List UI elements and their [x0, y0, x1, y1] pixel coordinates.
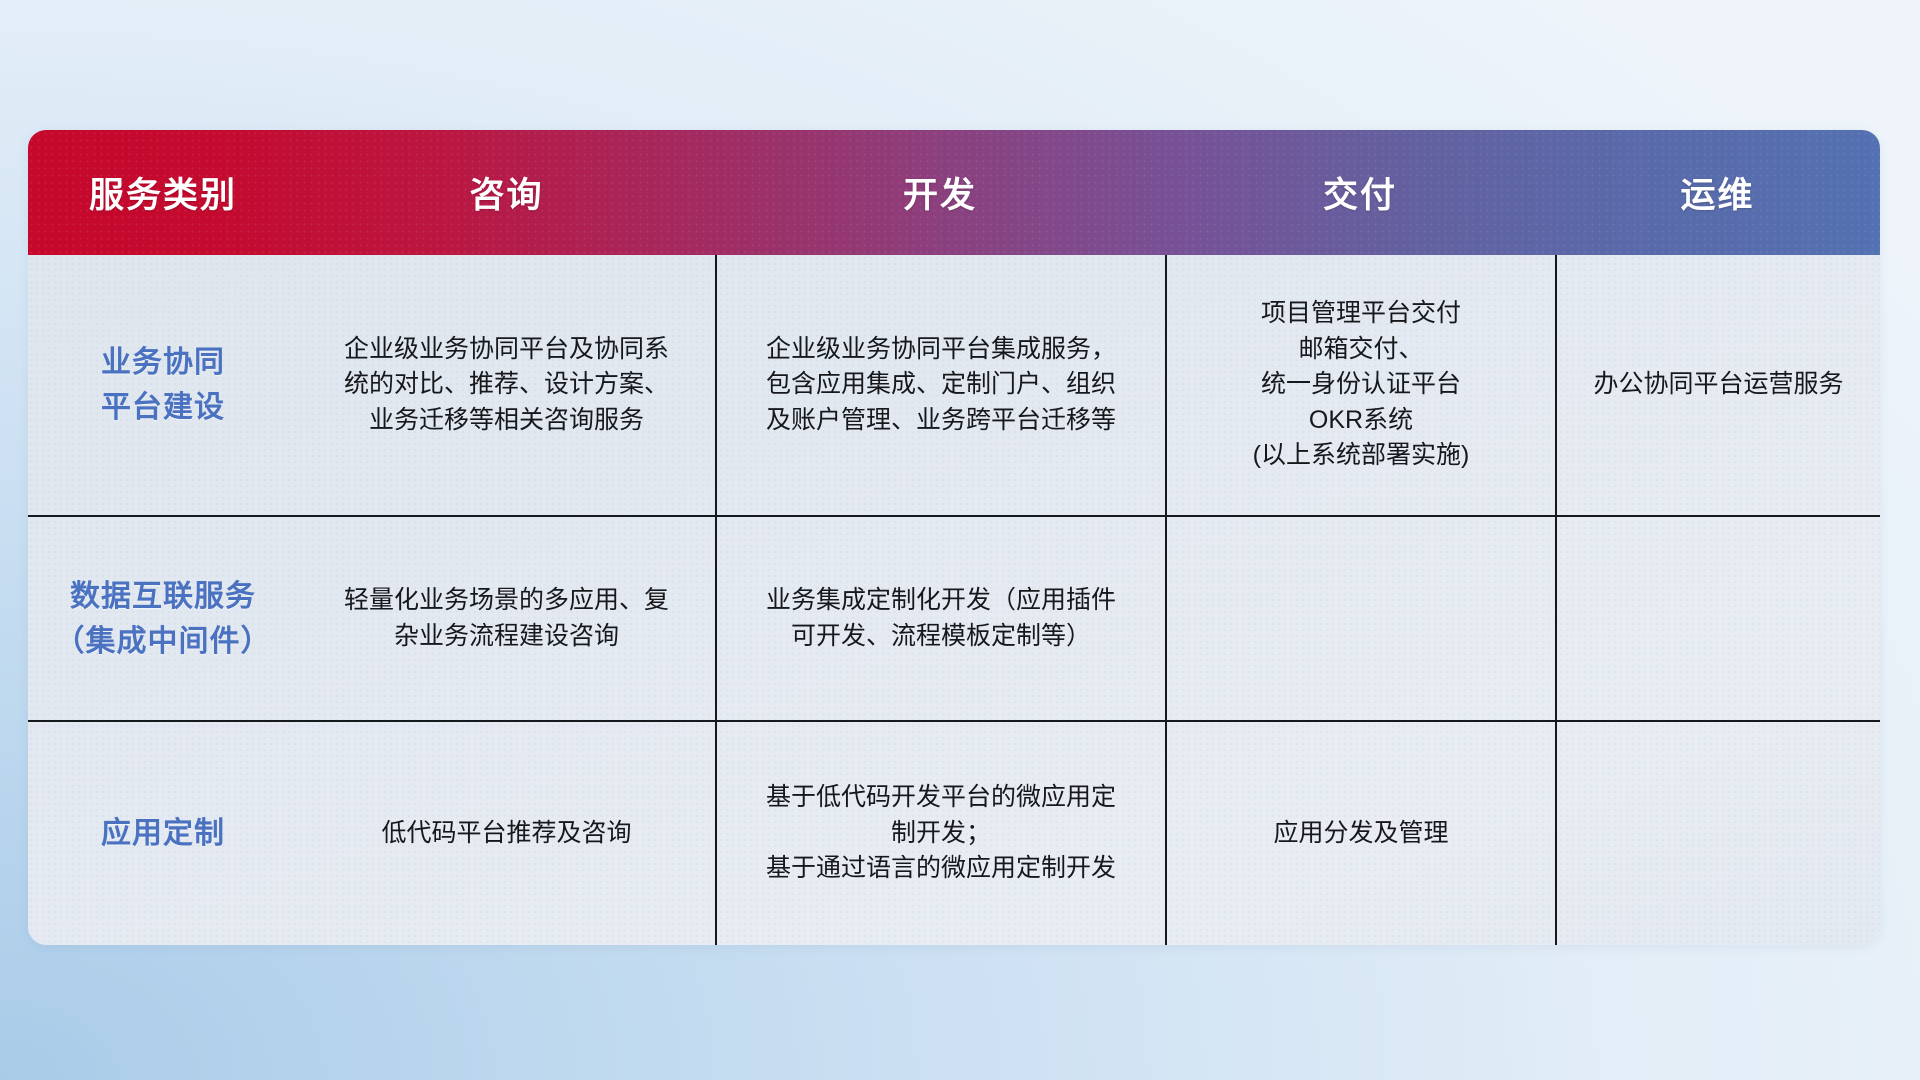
column-header-delivery: 交付	[1165, 130, 1555, 255]
row-label-data-integration: 数据互联服务 （集成中间件）	[28, 517, 298, 720]
column-header-consulting: 咨询	[298, 130, 715, 255]
cell-consulting: 轻量化业务场景的多应用、复 杂业务流程建设咨询	[298, 517, 715, 720]
column-header-service-category: 服务类别	[28, 130, 298, 255]
cell-development: 业务集成定制化开发（应用插件 可开发、流程模板定制等）	[715, 517, 1165, 720]
table-body: 业务协同 平台建设 企业级业务协同平台及协同系 统的对比、推荐、设计方案、 业务…	[28, 255, 1880, 945]
table-row: 业务协同 平台建设 企业级业务协同平台及协同系 统的对比、推荐、设计方案、 业务…	[28, 255, 1880, 515]
cell-delivery	[1165, 517, 1555, 720]
row-label-application-customization: 应用定制	[28, 722, 298, 945]
cell-operations	[1555, 517, 1880, 720]
column-header-development: 开发	[715, 130, 1165, 255]
row-label-business-collaboration: 业务协同 平台建设	[28, 255, 298, 515]
service-category-table: 服务类别 咨询 开发 交付 运维 业务协同 平台建设 企业级业务协同平台及协同系…	[28, 130, 1880, 945]
table-row: 应用定制 低代码平台推荐及咨询 基于低代码开发平台的微应用定 制开发； 基于通过…	[28, 720, 1880, 945]
cell-consulting: 低代码平台推荐及咨询	[298, 722, 715, 945]
table-row: 数据互联服务 （集成中间件） 轻量化业务场景的多应用、复 杂业务流程建设咨询 业…	[28, 515, 1880, 720]
cell-consulting: 企业级业务协同平台及协同系 统的对比、推荐、设计方案、 业务迁移等相关咨询服务	[298, 255, 715, 515]
column-header-operations: 运维	[1555, 130, 1880, 255]
cell-operations	[1555, 722, 1880, 945]
cell-delivery: 项目管理平台交付 邮箱交付、 统一身份认证平台 OKR系统 (以上系统部署实施)	[1165, 255, 1555, 515]
cell-operations: 办公协同平台运营服务	[1555, 255, 1880, 515]
cell-development: 基于低代码开发平台的微应用定 制开发； 基于通过语言的微应用定制开发	[715, 722, 1165, 945]
table-header-row: 服务类别 咨询 开发 交付 运维	[28, 130, 1880, 255]
cell-delivery: 应用分发及管理	[1165, 722, 1555, 945]
cell-development: 企业级业务协同平台集成服务， 包含应用集成、定制门户、组织 及账户管理、业务跨平…	[715, 255, 1165, 515]
